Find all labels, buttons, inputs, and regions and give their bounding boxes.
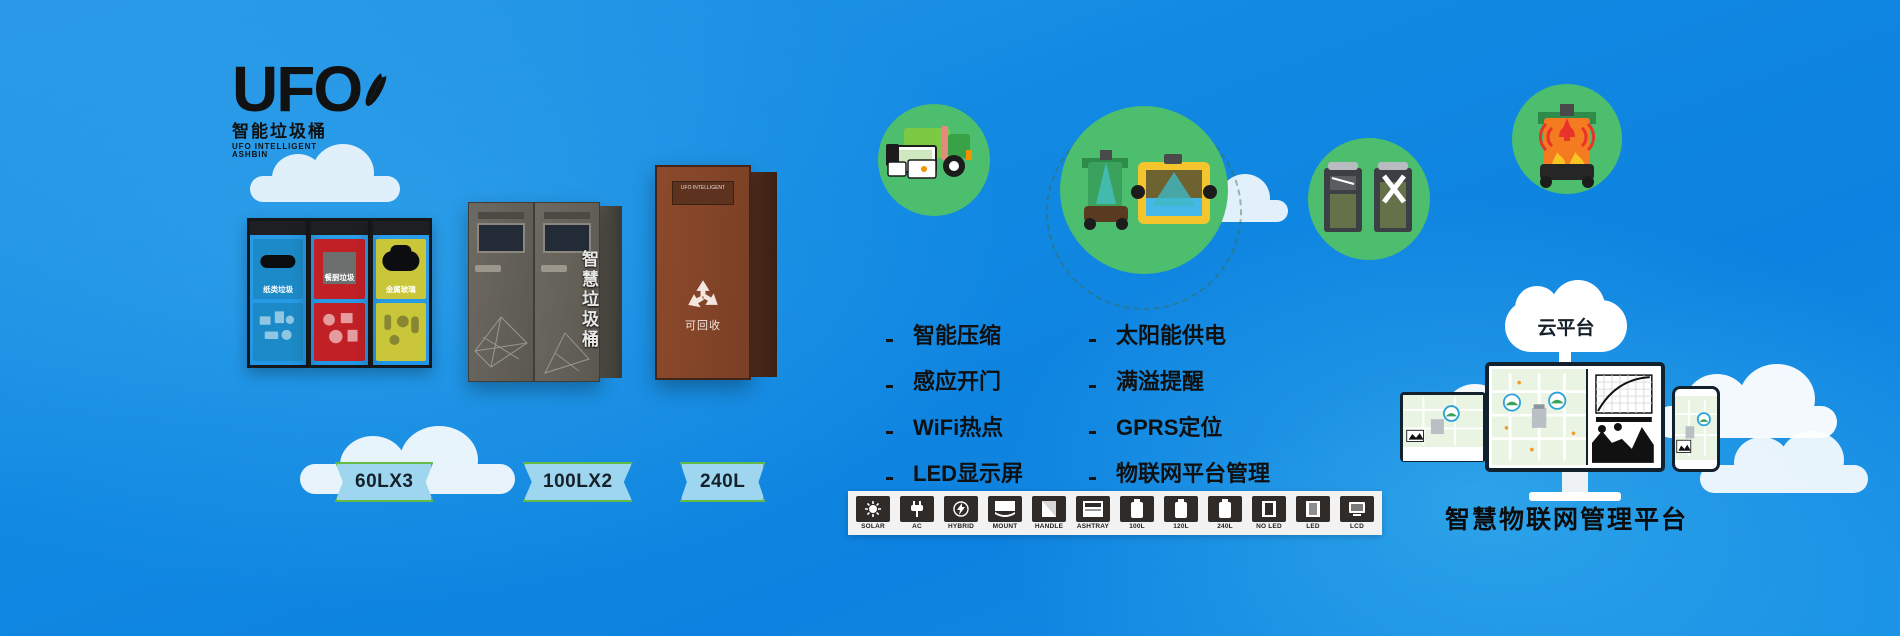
duo-bin-left <box>468 202 534 382</box>
feature-label: WiFi热点 <box>913 410 1003 442</box>
monitor-icon <box>1083 465 1102 480</box>
spec-icon-label: SOLAR <box>861 523 885 530</box>
spec-icon-label: AC <box>912 523 922 530</box>
feature-item: 满溢提醒 <box>1083 364 1270 396</box>
bin-panel-label: 金属玻璃 <box>376 284 426 295</box>
bin-panel-metal-glass: 金属玻璃 <box>370 218 432 368</box>
model-tag-240l: 240L <box>680 462 765 502</box>
feature-circle-compaction <box>1060 106 1228 274</box>
duo-bin-side-panel <box>600 206 622 378</box>
spec-icon-label: LCD <box>1350 523 1364 530</box>
duo-bin-vertical-label: 智慧垃圾桶 <box>576 250 601 350</box>
spec-icon-ashtray: ASHTRAY <box>1074 496 1112 530</box>
model-tag-100lx2: 100LX2 <box>523 462 633 502</box>
desktop-monitor <box>1485 362 1665 501</box>
chart-visualization <box>1586 369 1658 465</box>
recycle-icon <box>683 277 723 313</box>
feature-list: 智能压缩 感应开门 WiFi热点 LED显示屏 太阳能供电 满溢提醒 GPRS定… <box>880 318 1270 488</box>
spec-icon-lcd: LCD <box>1338 496 1376 530</box>
monitor-screen <box>1492 369 1658 465</box>
bin-panel-label: 餐厨垃圾 <box>314 272 364 283</box>
monitor-bezel <box>1485 362 1665 472</box>
feature-label: 感应开门 <box>913 364 1001 396</box>
tablet-device <box>1400 392 1486 462</box>
monitor-icon <box>880 327 899 342</box>
feature-label: 智能压缩 <box>913 318 1001 350</box>
monitor-icon <box>1083 327 1102 342</box>
spec-icon-led: LED <box>1294 496 1332 530</box>
brown-bin-label: 可回收 <box>657 317 749 333</box>
cloud-platform-badge: 云平台 <box>1505 300 1627 352</box>
feature-circle-compare <box>1308 138 1430 260</box>
spec-icon-label: LED <box>1306 523 1320 530</box>
feature-item: LED显示屏 <box>880 456 1023 488</box>
feature-item: 太阳能供电 <box>1083 318 1270 350</box>
spec-icon-label: HANDLE <box>1035 523 1063 530</box>
monitor-icon <box>880 419 899 434</box>
spec-icon-label: 240L <box>1217 523 1233 530</box>
map-visualization <box>1492 369 1586 465</box>
smartphone-device <box>1672 386 1720 472</box>
logo-chinese-name: 智能垃圾桶 <box>232 123 352 140</box>
feature-circle-fleet <box>878 104 990 216</box>
feature-label: GPRS定位 <box>1116 410 1222 442</box>
spec-icon-100l: 100L <box>1118 496 1156 530</box>
spec-icon-label: HYBRID <box>948 523 974 530</box>
spec-icon-label: ASHTRAY <box>1077 523 1109 530</box>
model-tag-label: 100LX2 <box>543 471 613 493</box>
spec-icon-label: NO LED <box>1256 523 1282 530</box>
spec-icon-hybrid: HYBRID <box>942 496 980 530</box>
monitor-neck <box>1562 472 1588 492</box>
logo-wordmark: UFO <box>232 60 361 118</box>
brand-logo: UFO 智能垃圾桶 UFO INTELLIGENT ASHBIN <box>232 58 352 159</box>
bin-panel-paper: 纸类垃圾 <box>247 218 308 368</box>
monitor-icon <box>1083 419 1102 434</box>
model-tag-60lx3: 60LX3 <box>335 462 433 502</box>
feature-item: 感应开门 <box>880 364 1023 396</box>
cloud-platform-label: 云平台 <box>1505 300 1627 352</box>
spec-icon-strip: SOLAR AC HYBRID MOUNT HANDLE ASHTRAY 1 <box>848 491 1382 535</box>
spec-icon-240l: 240L <box>1206 496 1244 530</box>
feature-item: WiFi热点 <box>880 410 1023 442</box>
model-tag-label: 60LX3 <box>355 471 413 493</box>
logo-english-name: UFO INTELLIGENT ASHBIN <box>232 143 352 159</box>
platform-title: 智慧物联网管理平台 <box>1445 500 1688 536</box>
feature-label: 满溢提醒 <box>1116 364 1204 396</box>
feature-label: 太阳能供电 <box>1116 318 1226 350</box>
feature-circle-fire-alarm <box>1512 84 1622 194</box>
bin-panel-kitchen: 餐厨垃圾 <box>308 218 369 368</box>
spec-icon-solar: SOLAR <box>854 496 892 530</box>
monitor-icon <box>880 465 899 480</box>
product-tri-bin: 纸类垃圾 餐厨垃圾 金属玻璃 <box>247 218 432 368</box>
spec-icon-label: 100L <box>1129 523 1145 530</box>
model-tag-label: 240L <box>700 471 745 493</box>
feature-item: GPRS定位 <box>1083 410 1270 442</box>
brown-bin-top-label: UFO INTELLIGENT <box>657 185 749 191</box>
spec-icon-120l: 120L <box>1162 496 1200 530</box>
cloud-decoration <box>250 150 410 210</box>
spec-icon-label: 120L <box>1173 523 1189 530</box>
spec-icon-mount: MOUNT <box>986 496 1024 530</box>
spec-icon-handle: HANDLE <box>1030 496 1068 530</box>
banner-canvas: UFO 智能垃圾桶 UFO INTELLIGENT ASHBIN 纸类垃圾 餐 <box>0 0 1900 636</box>
spec-icon-label: MOUNT <box>993 523 1018 530</box>
feature-item: 物联网平台管理 <box>1083 456 1270 488</box>
feature-label: LED显示屏 <box>913 456 1023 488</box>
feature-item: 智能压缩 <box>880 318 1023 350</box>
bin-panel-label: 纸类垃圾 <box>253 284 303 295</box>
monitor-icon <box>1083 373 1102 388</box>
spec-icon-no-led: NO LED <box>1250 496 1288 530</box>
feature-column-left: 智能压缩 感应开门 WiFi热点 LED显示屏 <box>880 318 1023 488</box>
cloud-decoration <box>1700 435 1870 497</box>
monitor-icon <box>880 373 899 388</box>
feature-column-right: 太阳能供电 满溢提醒 GPRS定位 物联网平台管理 <box>1083 318 1270 488</box>
spec-icon-ac: AC <box>898 496 936 530</box>
product-brown-bin: UFO INTELLIGENT 可回收 <box>655 165 751 380</box>
brown-bin-side-panel <box>751 172 777 377</box>
feature-label: 物联网平台管理 <box>1116 456 1270 488</box>
